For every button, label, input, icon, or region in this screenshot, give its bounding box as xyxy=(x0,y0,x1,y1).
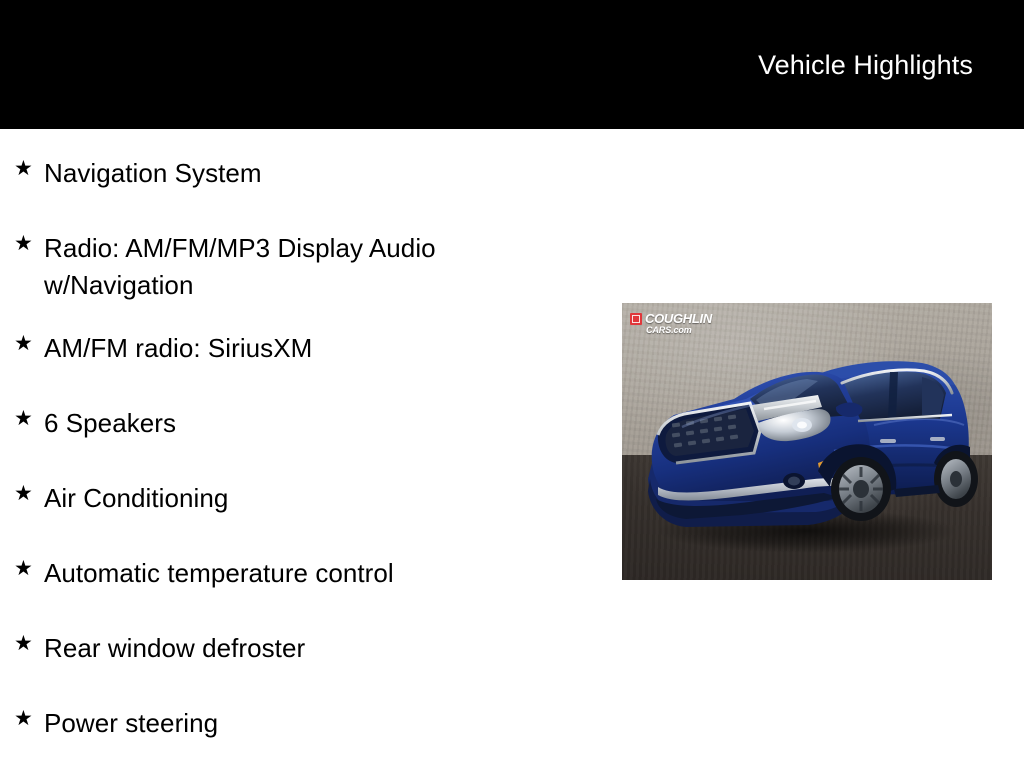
star-bullet-icon: ★ xyxy=(14,554,33,584)
watermark-domain-text: CARS.com xyxy=(646,326,692,335)
list-item-label: Power steering xyxy=(44,679,560,742)
star-bullet-icon: ★ xyxy=(14,629,33,659)
star-bullet-icon: ★ xyxy=(14,329,33,359)
list-item: ★ Power steering xyxy=(0,679,560,754)
star-bullet-icon: ★ xyxy=(14,479,33,509)
list-item: ★ Navigation System xyxy=(0,129,560,204)
list-item-label: AM/FM radio: SiriusXM xyxy=(44,304,560,367)
list-item: ★ Radio: AM/FM/MP3 Display Audio w/Navig… xyxy=(0,204,560,304)
watermark-row-brand: COUGHLIN xyxy=(630,312,712,325)
page-title: Vehicle Highlights xyxy=(758,50,973,81)
list-item: ★ Air Conditioning xyxy=(0,454,560,529)
list-item-label: Automatic temperature control xyxy=(44,529,560,592)
list-item-label: Radio: AM/FM/MP3 Display Audio w/Navigat… xyxy=(44,204,560,304)
star-bullet-icon: ★ xyxy=(14,704,33,734)
list-item: ★ 6 Speakers xyxy=(0,379,560,454)
star-bullet-icon: ★ xyxy=(14,154,33,184)
list-item: ★ AM/FM radio: SiriusXM xyxy=(0,304,560,379)
list-item-label: 6 Speakers xyxy=(44,379,560,442)
list-item-label: Navigation System xyxy=(44,129,560,192)
watermark-brand-text: COUGHLIN xyxy=(645,312,712,325)
list-item-label: Rear window defroster xyxy=(44,604,560,667)
list-item-label: Air Conditioning xyxy=(44,454,560,517)
star-bullet-icon: ★ xyxy=(14,404,33,434)
star-bullet-icon: ★ xyxy=(14,229,33,259)
list-item: ★ Automatic temperature control xyxy=(0,529,560,604)
suv-vehicle-illustration xyxy=(622,303,992,580)
vehicle-photo: COUGHLIN CARS.com xyxy=(622,303,992,580)
vehicle-highlights-list: ★ Navigation System ★ Radio: AM/FM/MP3 D… xyxy=(0,129,560,754)
header-bar: Vehicle Highlights xyxy=(0,0,1024,129)
coughlin-logo-icon xyxy=(630,313,642,325)
dealer-watermark: COUGHLIN CARS.com xyxy=(630,312,712,335)
list-item: ★ Rear window defroster xyxy=(0,604,560,679)
